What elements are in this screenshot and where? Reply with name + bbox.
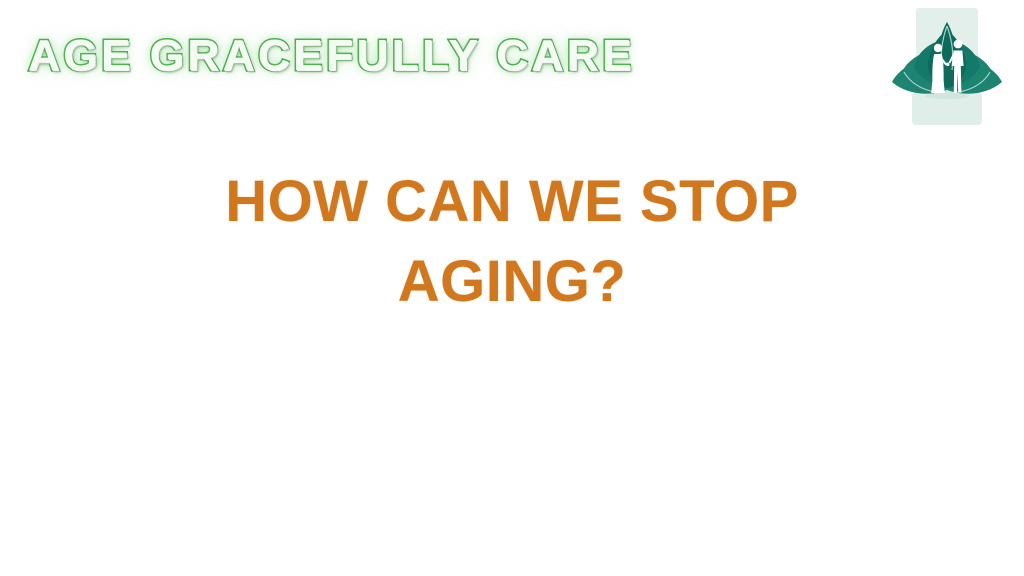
headline: HOW CAN WE STOP AGING? — [0, 162, 1024, 322]
brand-wordmark: AGE GRACEFULLY CARE — [28, 24, 728, 88]
headline-line-2: AGING? — [0, 242, 1024, 322]
slide-canvas: AGE GRACEFULLY CARE Lotus flower with an… — [0, 0, 1024, 576]
headline-line-1: HOW CAN WE STOP — [0, 162, 1024, 242]
brand-wordmark-text: AGE GRACEFULLY CARE — [28, 34, 635, 78]
lotus-with-couple-icon: Lotus flower with an elderly couple hold… — [884, 0, 1010, 132]
